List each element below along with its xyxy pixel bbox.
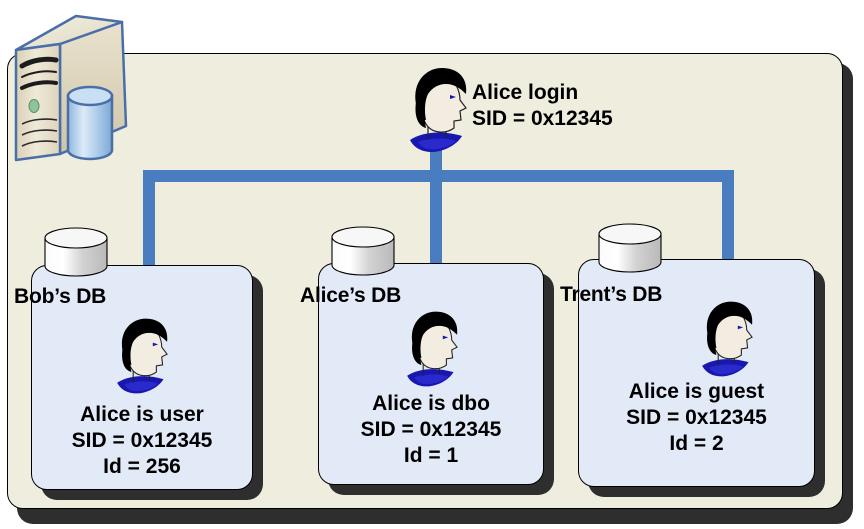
alices-db-label: Alice’s DB [300, 284, 401, 308]
login-text: Alice login SID = 0x12345 [472, 80, 682, 132]
alices-db-text: Alice is dbo SID = 0x12345 Id = 1 [318, 391, 544, 469]
bobs-db-text: Alice is user SID = 0x12345 Id = 256 [31, 402, 253, 480]
alices-db-person-icon [395, 308, 471, 390]
trents-db-person-icon [690, 298, 766, 380]
bobs-db-cylinder-icon [43, 227, 109, 277]
alices-db-line1: Alice is dbo [318, 391, 544, 417]
bobs-db-line2: SID = 0x12345 [31, 428, 253, 454]
diagram-canvas: Alice login SID = 0x12345 Bob’s DB [0, 0, 864, 529]
alices-db-cylinder-icon [330, 226, 396, 276]
trents-db-line1: Alice is guest [578, 379, 815, 405]
bobs-db-line1: Alice is user [31, 402, 253, 428]
server-tower-icon [2, 14, 130, 166]
alices-db-line2: SID = 0x12345 [318, 417, 544, 443]
login-line1: Alice login [472, 80, 682, 106]
alices-db-line3: Id = 1 [318, 443, 544, 469]
bobs-db-line3: Id = 256 [31, 454, 253, 480]
trents-db-label: Trent’s DB [560, 283, 662, 307]
trents-db-line2: SID = 0x12345 [578, 405, 815, 431]
trents-db-text: Alice is guest SID = 0x12345 Id = 2 [578, 379, 815, 457]
trents-db-line3: Id = 2 [578, 431, 815, 457]
bobs-db-label: Bob’s DB [14, 285, 106, 309]
login-person-icon [398, 64, 480, 156]
bobs-db-person-icon [105, 315, 181, 397]
login-line2: SID = 0x12345 [472, 106, 682, 132]
trents-db-cylinder-icon [597, 223, 663, 273]
